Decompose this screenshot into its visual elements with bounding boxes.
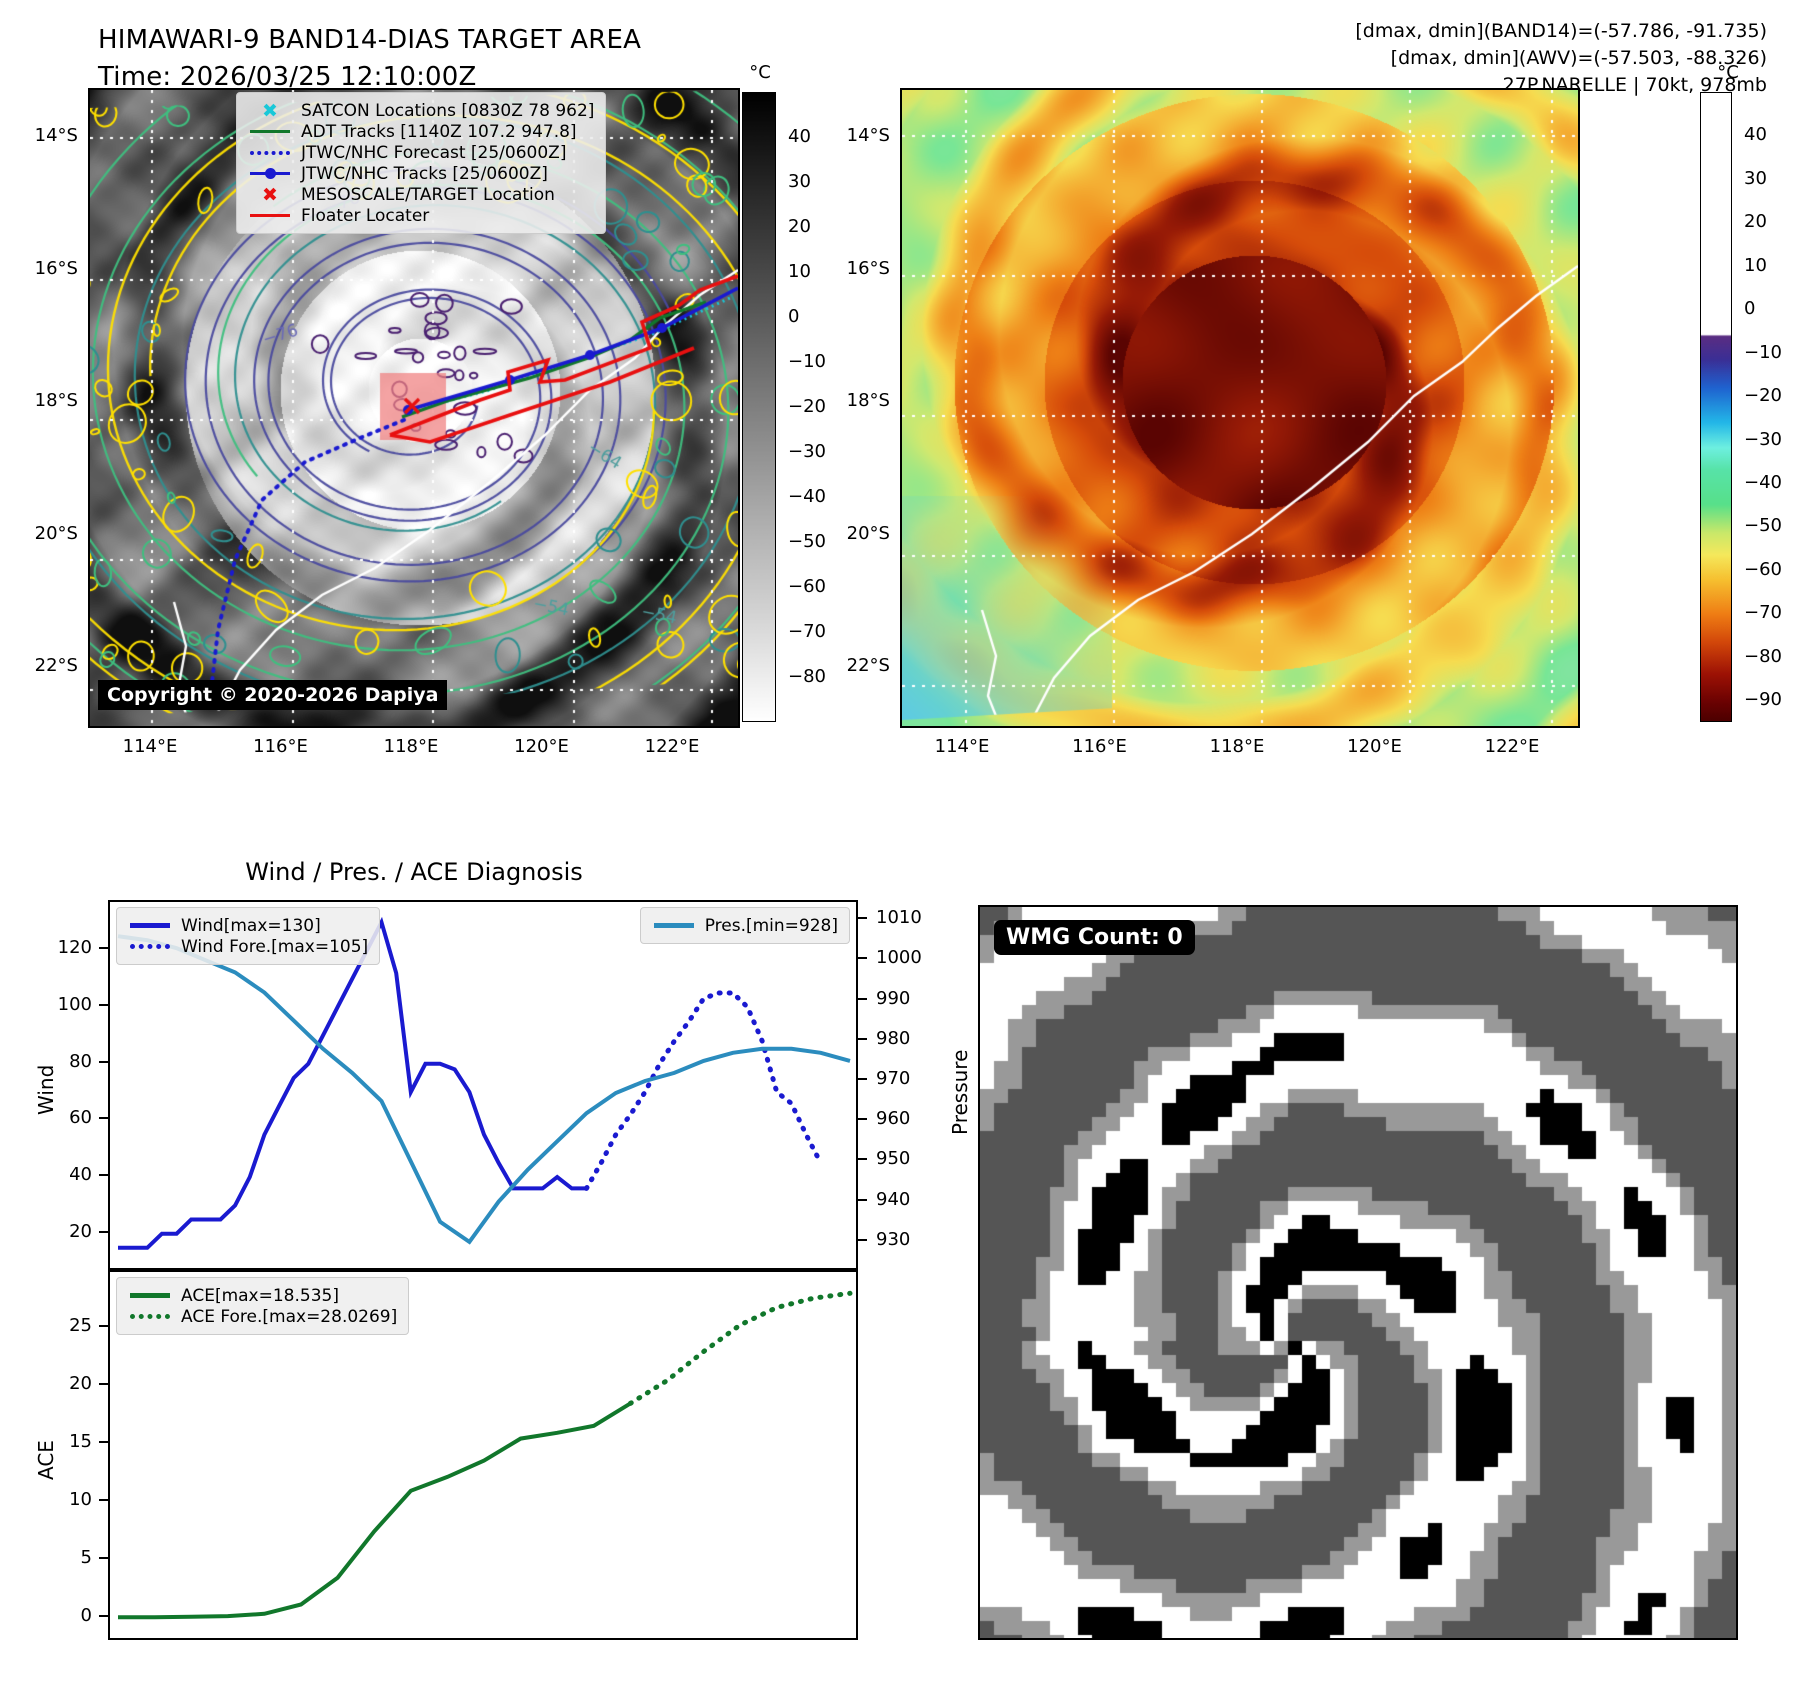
lat-tick: 16°S: [35, 258, 78, 279]
dotted-line-icon: [128, 944, 172, 949]
legend-item-ace: ACE[max=18.535]: [128, 1285, 397, 1306]
series-Pres.[min=928]: [118, 936, 850, 1242]
tick-mark: [858, 1078, 867, 1080]
line-icon: [248, 214, 292, 217]
tick-label: 10: [1744, 255, 1767, 276]
lat-tick: 20°S: [847, 523, 890, 544]
ace-tick: 20: [69, 1373, 92, 1394]
legend-label: ADT Tracks [1140Z 107.2 947.8]: [301, 122, 577, 142]
satellite-band14-panel[interactable]: ✖ SATCON Locations [0830Z 78 962] ADT Tr…: [88, 88, 740, 728]
pressure-tick: 990: [876, 988, 910, 1009]
line-icon: [652, 923, 696, 928]
legend-item-satcon: ✖ SATCON Locations [0830Z 78 962]: [248, 100, 594, 121]
pressure-tick: 1010: [876, 907, 922, 928]
tick-label: 40: [788, 126, 811, 147]
lon-tick: 122°E: [1474, 736, 1550, 757]
legend-item-ace-forecast: ACE Fore.[max=28.0269]: [128, 1306, 397, 1327]
legend-label: JTWC/NHC Tracks [25/0600Z]: [301, 164, 548, 184]
wmg-panel[interactable]: WMG Count: 0: [978, 905, 1738, 1640]
lon-tick: 116°E: [1062, 736, 1138, 757]
lat-tick: 14°S: [35, 125, 78, 146]
ace-tick: 5: [81, 1547, 92, 1568]
tick-label: −60: [1744, 559, 1782, 580]
ace-tick: 15: [69, 1431, 92, 1452]
x-marker-icon: ✖: [248, 184, 292, 206]
lon-tick: 120°E: [1337, 736, 1413, 757]
tick-mark: [858, 998, 867, 1000]
line-icon: [128, 923, 172, 928]
lon-tick: 120°E: [504, 736, 580, 757]
pressure-axis-label: Pressure: [948, 1050, 972, 1135]
tick-mark: [99, 947, 108, 949]
wind-chart-legend-left: Wind[max=130] Wind Fore.[max=105]: [116, 907, 380, 965]
tick-label: 30: [788, 171, 811, 192]
lat-tick: 14°S: [847, 125, 890, 146]
tick-mark: [99, 1325, 108, 1327]
tick-mark: [99, 1615, 108, 1617]
legend-label: Pres.[min=928]: [705, 916, 838, 936]
lat-tick: 18°S: [847, 390, 890, 411]
tick-label: −20: [1744, 385, 1782, 406]
legend-item-pressure: Pres.[min=928]: [652, 915, 838, 936]
right-longitude-ticks: 114°E116°E118°E120°E122°E: [900, 728, 1580, 768]
line-icon: [248, 130, 292, 133]
tick-mark: [858, 1239, 867, 1241]
pressure-tick: 1000: [876, 947, 922, 968]
pressure-tick: 940: [876, 1189, 910, 1210]
left-latitude-ticks: 14°S16°S18°S20°S22°S: [0, 88, 88, 728]
map-legend: ✖ SATCON Locations [0830Z 78 962] ADT Tr…: [236, 92, 606, 234]
legend-item-jtwc-forecast: JTWC/NHC Forecast [25/0600Z]: [248, 142, 594, 163]
pressure-tick: 960: [876, 1108, 910, 1129]
tick-label: 0: [788, 306, 799, 327]
tick-mark: [99, 1004, 108, 1006]
line-marker-icon: [248, 172, 292, 175]
tick-label: −70: [1744, 602, 1782, 623]
tick-label: −40: [1744, 472, 1782, 493]
line-icon: [128, 1293, 172, 1298]
tick-label: −50: [1744, 515, 1782, 536]
lon-tick: 116°E: [243, 736, 319, 757]
tick-mark: [858, 1038, 867, 1040]
tick-mark: [99, 1383, 108, 1385]
ace-tick: 25: [69, 1315, 92, 1336]
wind-chart-legend-right: Pres.[min=928]: [640, 907, 850, 944]
legend-label: ACE[max=18.535]: [181, 1286, 339, 1306]
pressure-tick: 980: [876, 1028, 910, 1049]
tick-label: 20: [788, 216, 811, 237]
metadata-block: [dmax, dmin](BAND14)=(-57.786, -91.735) …: [1355, 18, 1767, 99]
tick-label: 30: [1744, 168, 1767, 189]
wind-axis-label: Wind: [34, 1065, 58, 1115]
left-colorbar-title: °C: [730, 62, 790, 83]
dotted-line-icon: [128, 1314, 172, 1319]
legend-label: ACE Fore.[max=28.0269]: [181, 1307, 397, 1327]
tick-mark: [99, 1557, 108, 1559]
lat-tick: 22°S: [847, 655, 890, 676]
tick-mark: [858, 1199, 867, 1201]
page-title: HIMAWARI-9 BAND14-DIAS TARGET AREA Time:…: [98, 22, 641, 96]
tick-mark: [99, 1231, 108, 1233]
dotted-line-icon: [248, 151, 292, 155]
ace-tick: 10: [69, 1489, 92, 1510]
lon-tick: 114°E: [924, 736, 1000, 757]
tick-mark: [858, 1158, 867, 1160]
title-line: HIMAWARI-9 BAND14-DIAS TARGET AREA: [98, 22, 641, 59]
lat-tick: 18°S: [35, 390, 78, 411]
ace-chart-legend: ACE[max=18.535] ACE Fore.[max=28.0269]: [116, 1277, 409, 1335]
tick-label: −80: [1744, 646, 1782, 667]
pressure-tick: 950: [876, 1148, 910, 1169]
legend-label: Wind Fore.[max=105]: [181, 937, 368, 957]
legend-item-mesoscale: ✖ MESOSCALE/TARGET Location: [248, 184, 594, 205]
left-longitude-ticks: 114°E116°E118°E120°E122°E: [88, 728, 740, 768]
wind-tick: 40: [69, 1164, 92, 1185]
tick-mark: [858, 917, 867, 919]
tick-mark: [858, 957, 867, 959]
tick-mark: [99, 1441, 108, 1443]
right-latitude-ticks: 14°S16°S18°S20°S22°S: [812, 88, 900, 728]
tick-label: 10: [788, 261, 811, 282]
lat-tick: 16°S: [847, 258, 890, 279]
copyright-notice: Copyright © 2020-2026 Dapiya: [98, 680, 447, 710]
x-marker-icon: ✖: [248, 100, 292, 122]
satellite-enhanced-ir-panel[interactable]: [900, 88, 1580, 728]
wind-tick: 80: [69, 1051, 92, 1072]
tick-label: −90: [1744, 689, 1782, 710]
wind-tick: 120: [58, 937, 92, 958]
tick-mark: [99, 1117, 108, 1119]
wmg-count-badge: WMG Count: 0: [994, 920, 1195, 955]
lon-tick: 122°E: [634, 736, 710, 757]
tick-label: −30: [1744, 429, 1782, 450]
series-Wind[max=130]: [118, 922, 587, 1248]
ace-axis-label: ACE: [34, 1440, 58, 1480]
lon-tick: 118°E: [1199, 736, 1275, 757]
wind-tick: 20: [69, 1221, 92, 1242]
lat-tick: 20°S: [35, 523, 78, 544]
pressure-tick: 930: [876, 1229, 910, 1250]
lon-tick: 118°E: [373, 736, 449, 757]
tick-mark: [99, 1174, 108, 1176]
legend-label: Wind[max=130]: [181, 916, 321, 936]
tick-mark: [99, 1061, 108, 1063]
ace-tick: 0: [81, 1605, 92, 1626]
right-colorbar-ticks: 403020100−10−20−30−40−50−60−70−80−90: [1700, 92, 1795, 722]
pressure-tick: 970: [876, 1068, 910, 1089]
legend-item-floater: Floater Locater: [248, 205, 594, 226]
diagnosis-section-title: Wind / Pres. / ACE Diagnosis: [88, 858, 740, 886]
tick-mark: [99, 1499, 108, 1501]
ace-chart[interactable]: ACE[max=18.535] ACE Fore.[max=28.0269]: [108, 1270, 858, 1640]
legend-item-wind: Wind[max=130]: [128, 915, 368, 936]
legend-item-wind-forecast: Wind Fore.[max=105]: [128, 936, 368, 957]
series-ACE[max=18.535]: [118, 1403, 630, 1617]
series-ACE Fore.[max=28.0269]: [630, 1293, 850, 1403]
legend-label: JTWC/NHC Forecast [25/0600Z]: [301, 143, 566, 163]
tick-label: 40: [1744, 124, 1767, 145]
legend-label: SATCON Locations [0830Z 78 962]: [301, 101, 594, 121]
dmax-band14-text: [dmax, dmin](BAND14)=(-57.786, -91.735): [1355, 18, 1767, 45]
lon-tick: 114°E: [112, 736, 188, 757]
tick-label: 20: [1744, 211, 1767, 232]
legend-item-jtwc-tracks: JTWC/NHC Tracks [25/0600Z]: [248, 163, 594, 184]
tick-label: −10: [1744, 342, 1782, 363]
right-colorbar-title: °C: [1698, 62, 1758, 83]
wind-tick: 60: [69, 1107, 92, 1128]
wind-pressure-chart[interactable]: Wind[max=130] Wind Fore.[max=105] Pres.[…: [108, 900, 858, 1270]
legend-item-adt: ADT Tracks [1140Z 107.2 947.8]: [248, 121, 594, 142]
tick-mark: [858, 1118, 867, 1120]
lat-tick: 22°S: [35, 655, 78, 676]
legend-label: Floater Locater: [301, 206, 429, 226]
tick-label: 0: [1744, 298, 1755, 319]
legend-label: MESOSCALE/TARGET Location: [301, 185, 555, 205]
wind-tick: 100: [58, 994, 92, 1015]
